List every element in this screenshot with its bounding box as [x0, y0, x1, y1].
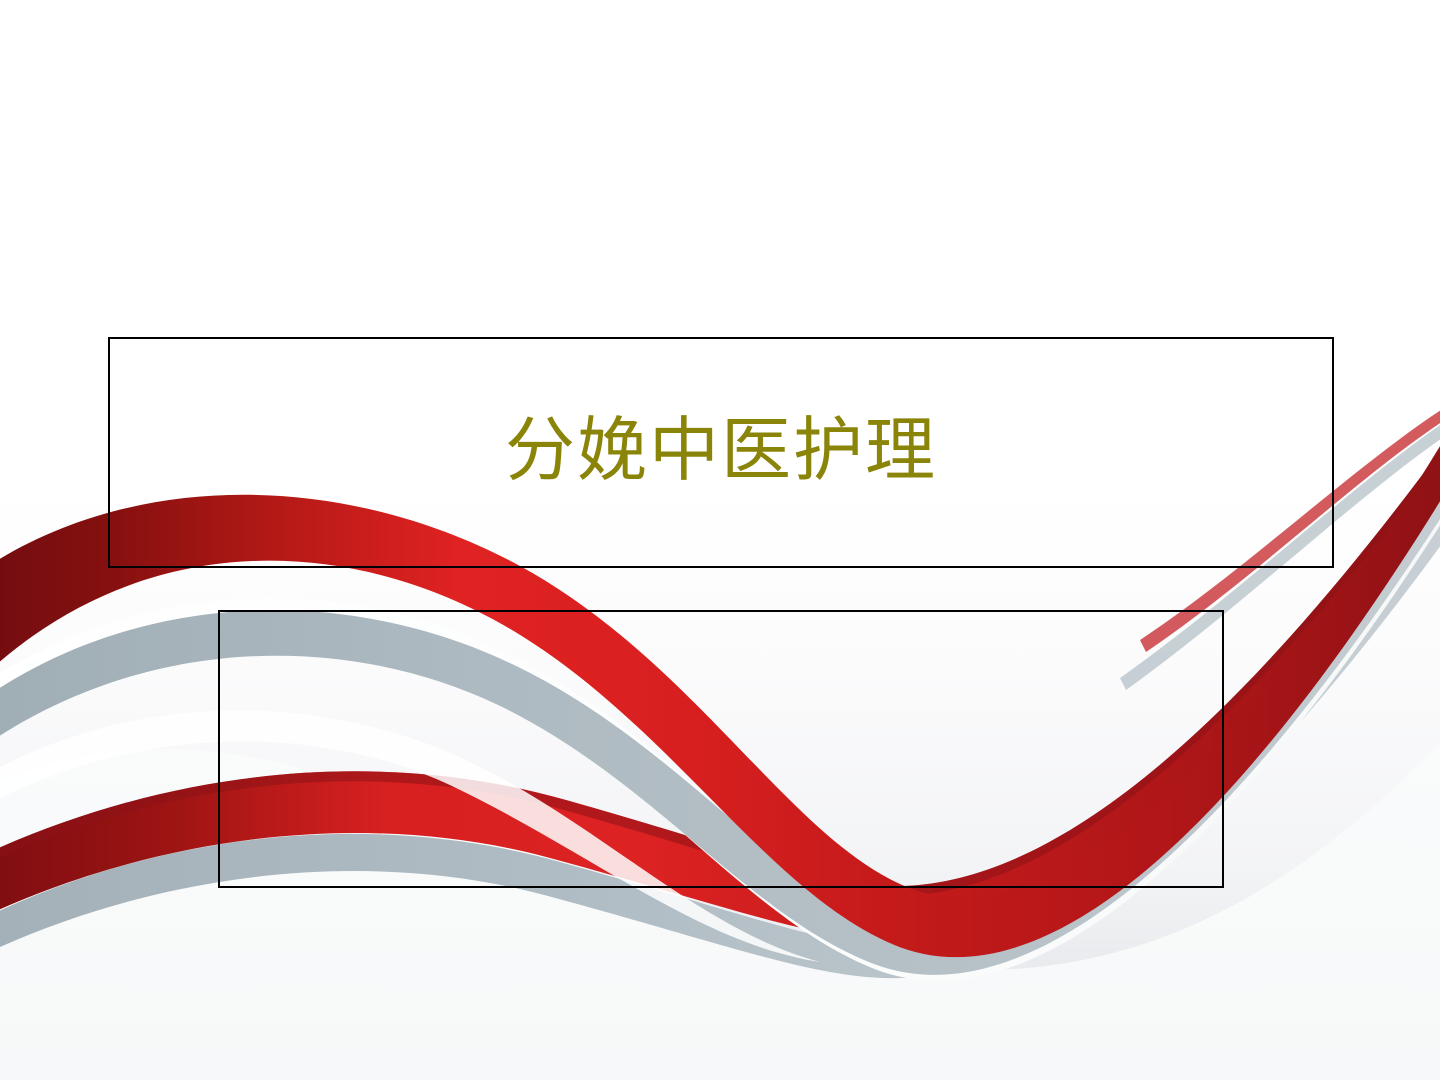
presentation-slide: 分娩中医护理 — [0, 0, 1440, 1080]
subtitle-placeholder[interactable] — [218, 610, 1224, 888]
title-placeholder[interactable]: 分娩中医护理 — [108, 337, 1334, 568]
page-title: 分娩中医护理 — [505, 413, 937, 491]
